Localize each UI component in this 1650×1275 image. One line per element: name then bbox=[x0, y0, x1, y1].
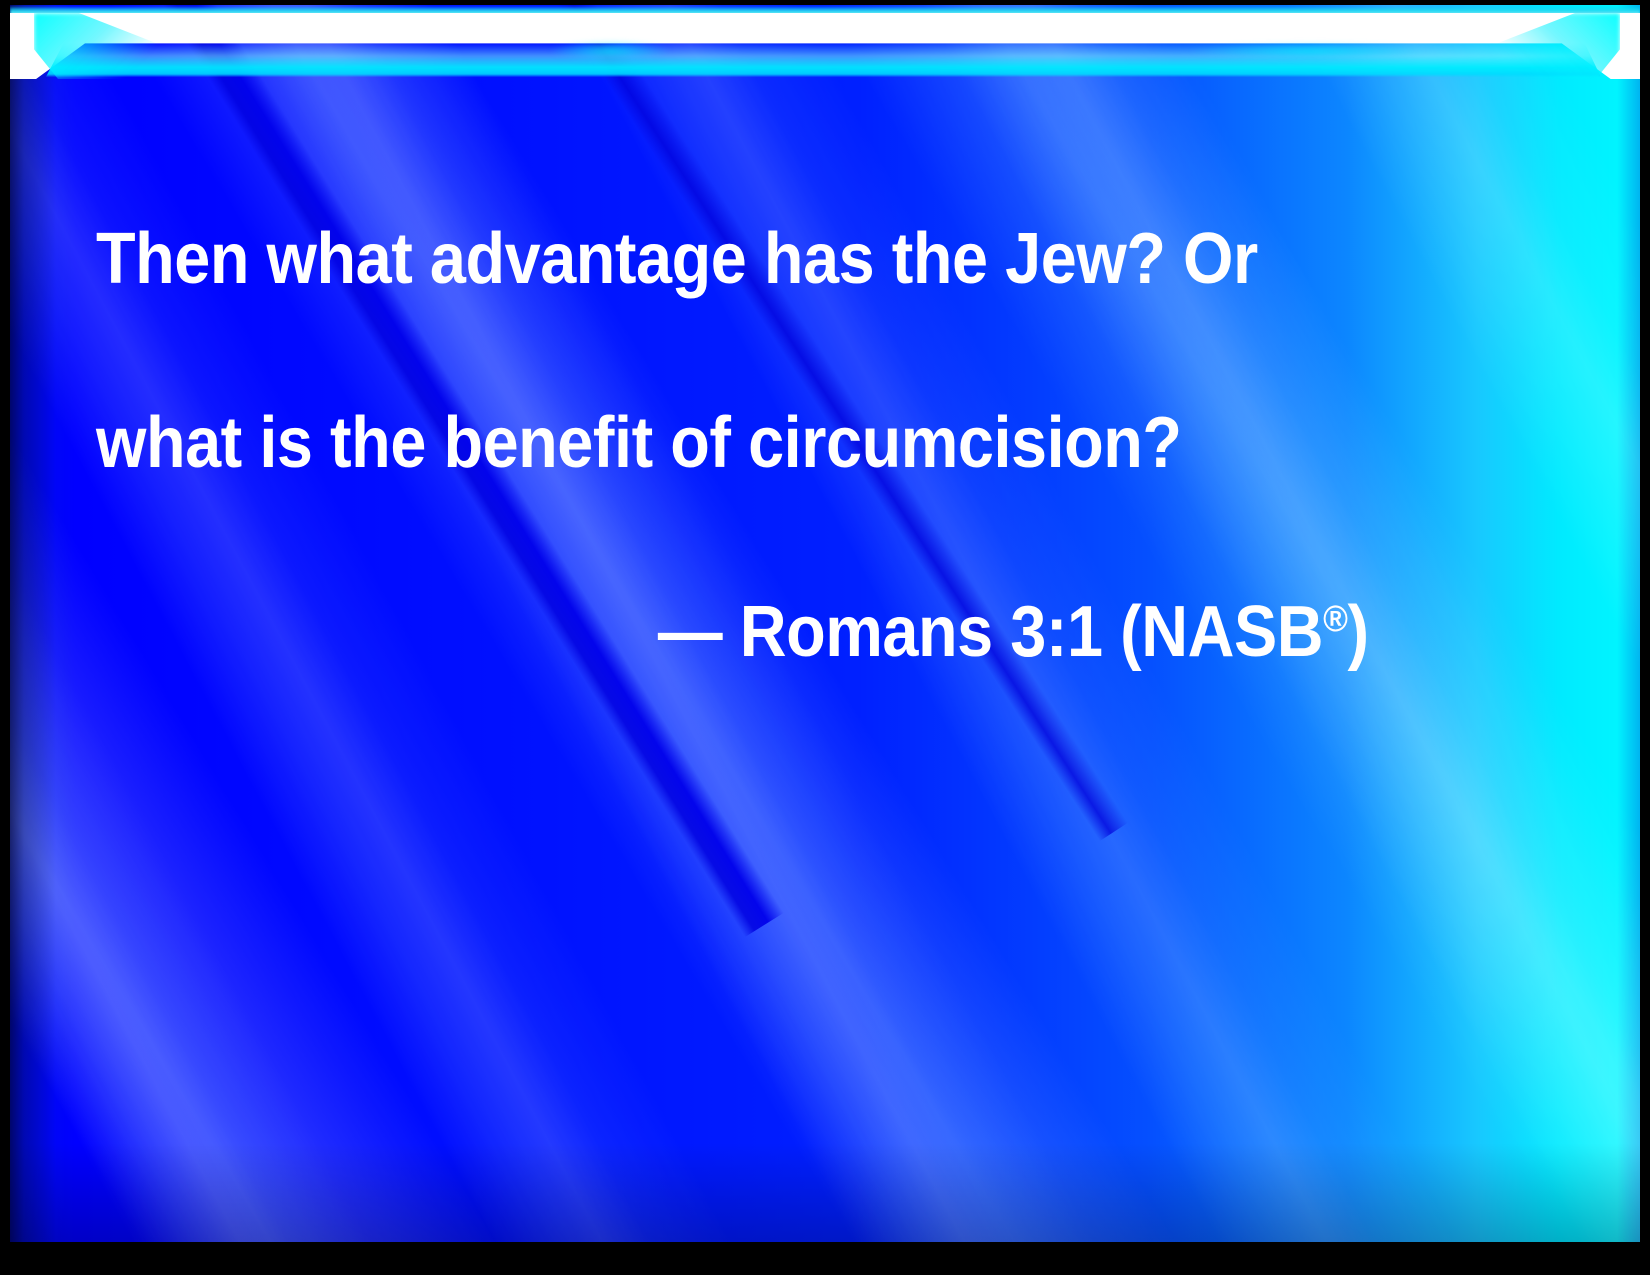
verse-line-1: Then what advantage has the Jew? Or bbox=[96, 213, 1383, 305]
verse-attribution-suffix: ) bbox=[1347, 592, 1368, 672]
top-banner bbox=[10, 5, 1640, 83]
verse-attribution: — Romans 3:1 (NASB®) bbox=[96, 586, 1383, 678]
verse-attribution-prefix: — Romans 3:1 (NASB bbox=[658, 592, 1323, 672]
banner-cyan-blotch bbox=[550, 41, 670, 61]
slide-artboard: Then what advantage has the Jew? Or what… bbox=[10, 5, 1640, 1242]
registered-trademark-icon: ® bbox=[1323, 597, 1347, 639]
slide-canvas: Then what advantage has the Jew? Or what… bbox=[0, 0, 1650, 1275]
verse-line-2: what is the benefit of circumcision? bbox=[96, 397, 1383, 489]
verse-text-block: Then what advantage has the Jew? Or what… bbox=[96, 121, 1383, 770]
banner-cyan-blotch bbox=[1190, 43, 1430, 59]
